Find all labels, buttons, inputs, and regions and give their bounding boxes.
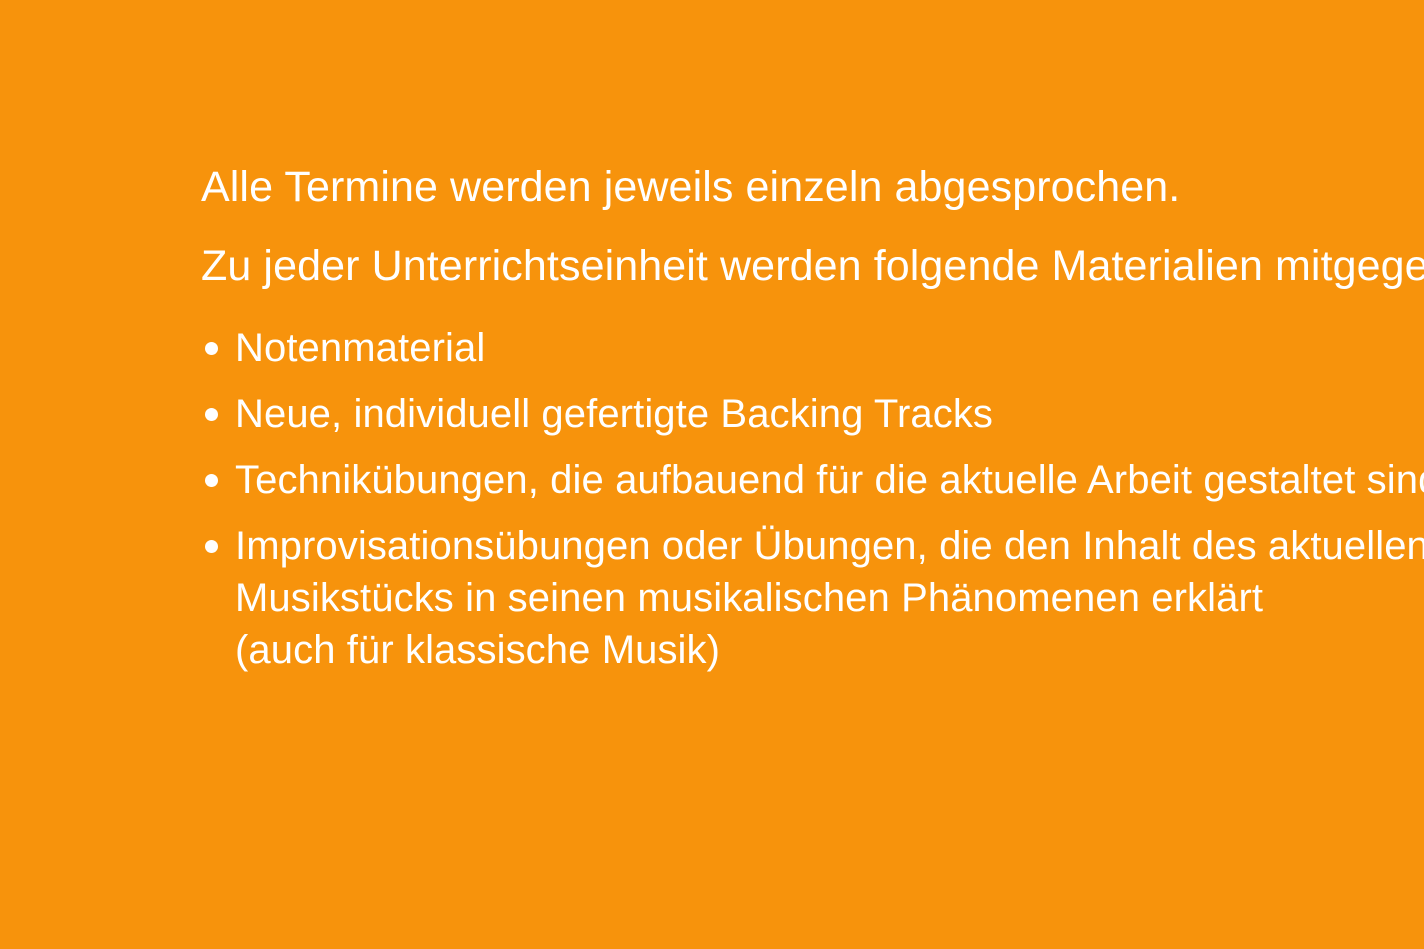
list-item-line: Improvisationsübungen oder Übungen, die … <box>235 520 1341 572</box>
materials-bullet-list: Notenmaterial Neue, individuell gefertig… <box>201 322 1341 676</box>
list-item-text: Neue, individuell gefertigte Backing Tra… <box>235 388 1341 440</box>
list-item-line: Neue, individuell gefertigte Backing Tra… <box>235 388 1341 440</box>
intro-line-1: Alle Termine werden jeweils einzeln abge… <box>201 166 1341 209</box>
list-item: Neue, individuell gefertigte Backing Tra… <box>201 388 1341 440</box>
slide-canvas: Alle Termine werden jeweils einzeln abge… <box>0 0 1424 949</box>
intro-line-2: Zu jeder Unterrichtseinheit werden folge… <box>201 245 1341 288</box>
list-item-line: (auch für klassische Musik) <box>235 624 1341 676</box>
list-item-text: Technikübungen, die aufbauend für die ak… <box>235 454 1341 506</box>
bullet-dot-icon <box>205 540 218 553</box>
bullet-dot-icon <box>205 474 218 487</box>
list-item: Notenmaterial <box>201 322 1341 374</box>
list-item-text: Improvisationsübungen oder Übungen, die … <box>235 520 1341 676</box>
list-item-line: Technikübungen, die aufbauend für die ak… <box>235 454 1341 506</box>
slide-content: Alle Termine werden jeweils einzeln abge… <box>201 166 1341 676</box>
list-item: Improvisationsübungen oder Übungen, die … <box>201 520 1341 676</box>
list-item-line: Musikstücks in seinen musikalischen Phän… <box>235 572 1341 624</box>
list-item-line: Notenmaterial <box>235 322 1341 374</box>
bullet-dot-icon <box>205 342 218 355</box>
bullet-dot-icon <box>205 408 218 421</box>
list-item-text: Notenmaterial <box>235 322 1341 374</box>
list-item: Technikübungen, die aufbauend für die ak… <box>201 454 1341 506</box>
